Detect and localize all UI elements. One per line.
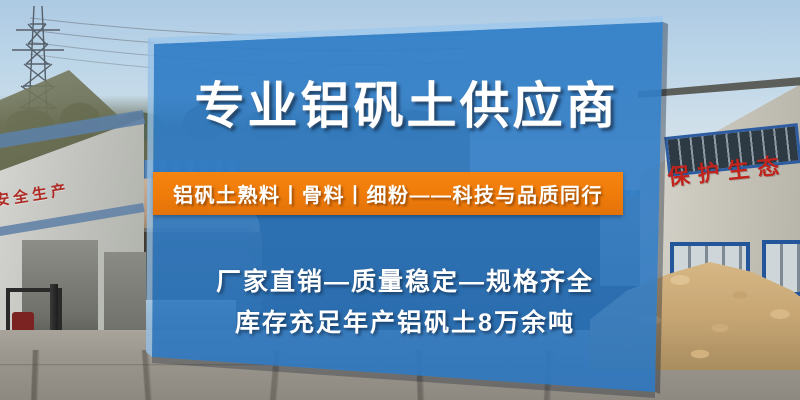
page-title: 专业铝矾土供应商 xyxy=(154,78,659,136)
tagline-text: 铝矾土熟料丨骨料丨细粉——科技与品质同行 xyxy=(173,179,603,208)
promo-banner: 安全生产 保护生态 专业铝矾土供应商 铝矾土熟料丨骨料丨细粉——科技与品质同行 … xyxy=(0,0,800,400)
subtitle-line-1: 厂家直销—质量稳定—规格齐全 xyxy=(154,262,656,298)
tagline-banner: 铝矾土熟料丨骨料丨细粉——科技与品质同行 xyxy=(153,172,623,215)
subtitle-line-2: 库存充足年产铝矾土8万余吨 xyxy=(154,303,656,339)
